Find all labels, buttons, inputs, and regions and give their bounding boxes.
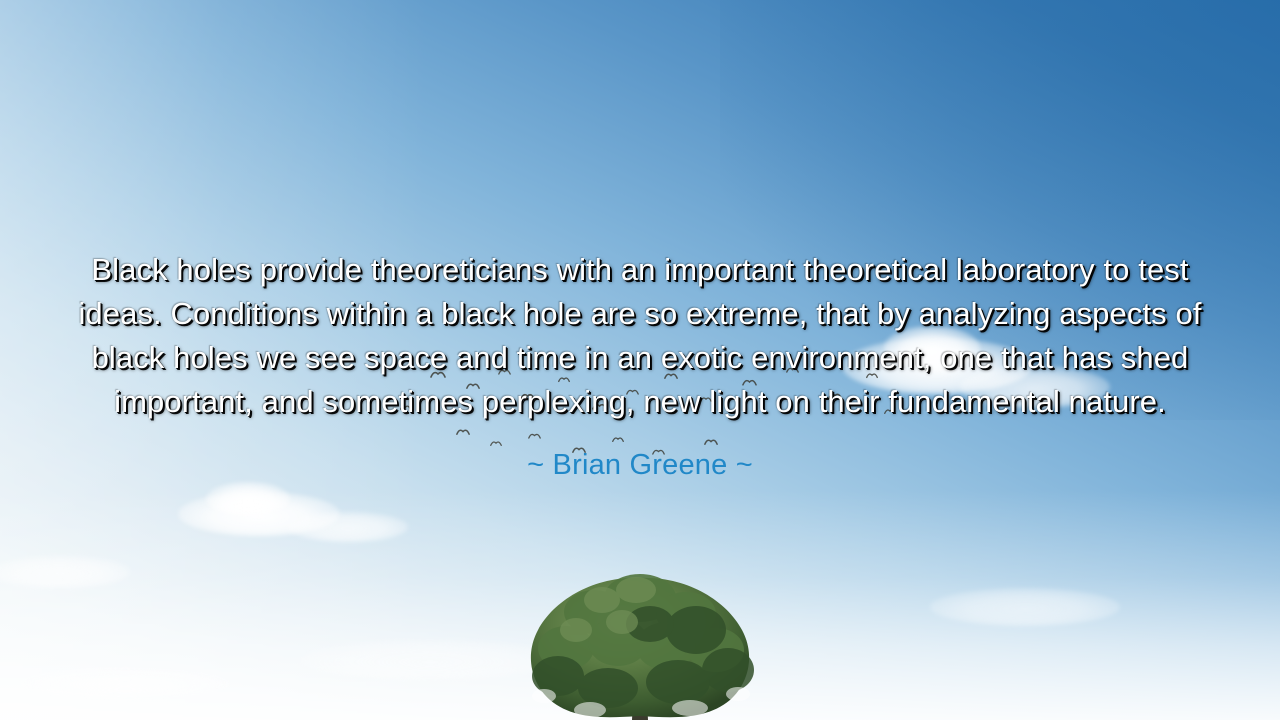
cloud-bottom-center <box>300 640 560 680</box>
cloud-left-tail <box>288 512 408 542</box>
cloud-bottom-left-wisp <box>20 668 230 698</box>
quote-text: Black holes provide theoreticians with a… <box>70 248 1210 424</box>
quote-block: Black holes provide theoreticians with a… <box>0 248 1280 483</box>
quote-attribution: ~ Brian Greene ~ <box>70 447 1210 483</box>
cloud-bottom-right <box>930 588 1120 626</box>
tree-illustration <box>490 560 790 720</box>
cloud-left-puff <box>206 482 290 516</box>
cloud-far-left-low <box>0 556 130 588</box>
sky-haze-horizon <box>0 490 1280 720</box>
cloud-left-main <box>178 492 340 536</box>
quote-image-scene: Black holes provide theoreticians with a… <box>0 0 1280 720</box>
